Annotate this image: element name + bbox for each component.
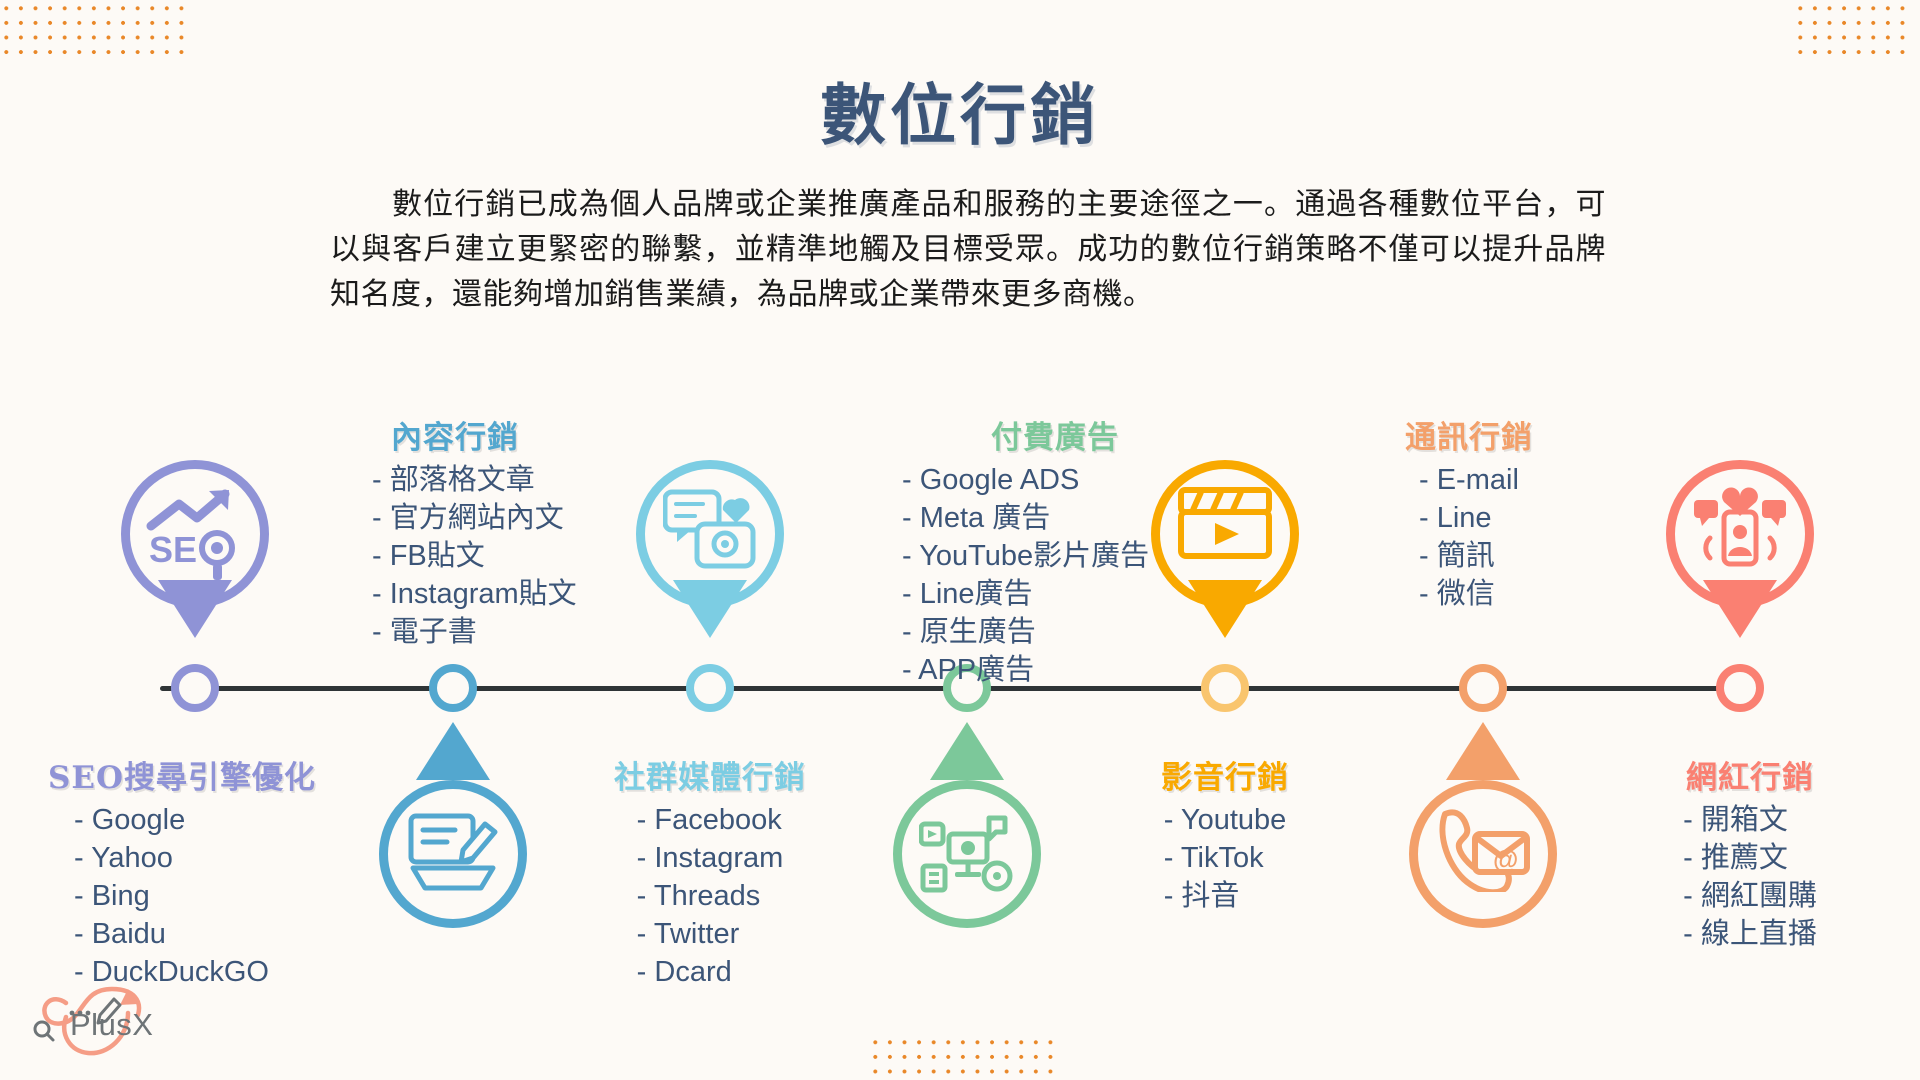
pin-paid[interactable] bbox=[893, 722, 1041, 900]
pin-seo[interactable]: SE bbox=[121, 460, 269, 638]
list-item: 部落格文章 bbox=[372, 461, 610, 499]
list-content: 部落格文章 官方網站內文 FB貼文 Instagram貼文 電子書 bbox=[300, 461, 610, 651]
pin-tail bbox=[1446, 722, 1520, 780]
list-item: E-mail bbox=[1419, 461, 1695, 499]
list-item: 抖音 bbox=[1164, 877, 1287, 915]
list-item: FB貼文 bbox=[372, 537, 610, 575]
list-item: Baidu bbox=[74, 915, 348, 953]
list-item: Instagram bbox=[637, 839, 784, 877]
svg-text:SE: SE bbox=[149, 529, 197, 570]
plusx-logo: PlusX bbox=[20, 985, 170, 1067]
list-item: 推薦文 bbox=[1683, 839, 1817, 877]
chat-bubbles-icon bbox=[663, 486, 757, 576]
seo-chart-icon: SE bbox=[145, 486, 245, 582]
svg-text:@: @ bbox=[1493, 844, 1518, 874]
list-item: 開箱文 bbox=[1683, 801, 1817, 839]
list-item: 官方網站內文 bbox=[372, 499, 610, 537]
pin-messaging[interactable]: @ bbox=[1409, 722, 1557, 900]
dot-pattern-bottom bbox=[865, 1032, 1060, 1074]
list-item: Dcard bbox=[637, 953, 784, 991]
timeline-node-content bbox=[429, 664, 477, 712]
list-item: Bing bbox=[74, 877, 348, 915]
page-title: 數位行銷 bbox=[0, 62, 1920, 158]
phone-mail-icon: @ bbox=[1435, 806, 1531, 892]
dot-pattern-top-left bbox=[0, 0, 186, 60]
list-item: Threads bbox=[637, 877, 784, 915]
logo-text: PlusX bbox=[70, 1007, 153, 1043]
pin-social[interactable] bbox=[636, 460, 784, 638]
heading-influencer: 網紅行銷 bbox=[1620, 752, 1880, 797]
intro-paragraph: 數位行銷已成為個人品牌或企業推廣產品和服務的主要途徑之一。通過各種數位平台，可以… bbox=[330, 182, 1606, 317]
list-item: 微信 bbox=[1419, 575, 1695, 613]
timeline-node-influencer bbox=[1716, 664, 1764, 712]
timeline-node-messaging bbox=[1459, 664, 1507, 712]
block-influencer: 網紅行銷 開箱文 推薦文 網紅團購 線上直播 bbox=[1620, 752, 1880, 953]
pin-tail bbox=[158, 580, 232, 638]
infographic-canvas: 數位行銷 數位行銷已成為個人品牌或企業推廣產品和服務的主要途徑之一。通過各種數位… bbox=[0, 0, 1920, 1080]
block-messaging: 通訊行銷 E-mail Line 簡訊 微信 bbox=[1405, 412, 1695, 613]
dot-pattern-top-right bbox=[1790, 0, 1910, 60]
pin-tail bbox=[930, 722, 1004, 780]
pin-influencer[interactable] bbox=[1666, 460, 1814, 638]
list-item: Yahoo bbox=[74, 839, 348, 877]
list-item: APP廣告 bbox=[902, 651, 1220, 689]
block-social: 社群媒體行銷 Facebook Instagram Threads Twitte… bbox=[560, 752, 860, 991]
pin-tail bbox=[416, 722, 490, 780]
heading-social: 社群媒體行銷 bbox=[560, 752, 860, 797]
pin-video[interactable] bbox=[1151, 460, 1299, 638]
block-seo: SEO搜尋引擎優化 Google Yahoo Bing Baidu DuckDu… bbox=[48, 752, 348, 991]
influencer-phone-icon bbox=[1692, 486, 1788, 578]
heading-content: 內容行銷 bbox=[300, 412, 610, 457]
list-item: Youtube bbox=[1164, 801, 1287, 839]
pin-tail bbox=[673, 580, 747, 638]
list-messaging: E-mail Line 簡訊 微信 bbox=[1405, 461, 1695, 613]
list-item: Google bbox=[74, 801, 348, 839]
timeline-node-social bbox=[686, 664, 734, 712]
document-pen-icon bbox=[407, 806, 499, 894]
block-video: 影音行銷 Youtube TikTok 抖音 bbox=[1085, 752, 1365, 915]
pin-tail bbox=[1703, 580, 1777, 638]
heading-video: 影音行銷 bbox=[1085, 752, 1365, 797]
list-item: 簡訊 bbox=[1419, 537, 1695, 575]
list-item: Instagram貼文 bbox=[372, 575, 610, 613]
list-item: Line bbox=[1419, 499, 1695, 537]
list-item: TikTok bbox=[1164, 839, 1287, 877]
list-influencer: 開箱文 推薦文 網紅團購 線上直播 bbox=[1683, 801, 1817, 953]
ads-megaphone-icon bbox=[919, 806, 1015, 898]
timeline-node-seo bbox=[171, 664, 219, 712]
pin-content[interactable] bbox=[379, 722, 527, 900]
pin-tail bbox=[1188, 580, 1262, 638]
heading-paid: 付費廣告 bbox=[890, 412, 1220, 457]
list-item: 電子書 bbox=[372, 613, 610, 651]
list-item: Facebook bbox=[637, 801, 784, 839]
video-play-icon bbox=[1177, 486, 1273, 560]
list-video: Youtube TikTok 抖音 bbox=[1164, 801, 1287, 915]
list-item: 線上直播 bbox=[1683, 915, 1817, 953]
list-item: Twitter bbox=[637, 915, 784, 953]
list-item: 網紅團購 bbox=[1683, 877, 1817, 915]
heading-messaging: 通訊行銷 bbox=[1405, 412, 1695, 457]
list-seo: Google Yahoo Bing Baidu DuckDuckGO bbox=[48, 801, 348, 991]
heading-seo: SEO搜尋引擎優化 bbox=[48, 752, 348, 797]
list-social: Facebook Instagram Threads Twitter Dcard bbox=[637, 801, 784, 991]
block-content: 內容行銷 部落格文章 官方網站內文 FB貼文 Instagram貼文 電子書 bbox=[300, 412, 610, 651]
